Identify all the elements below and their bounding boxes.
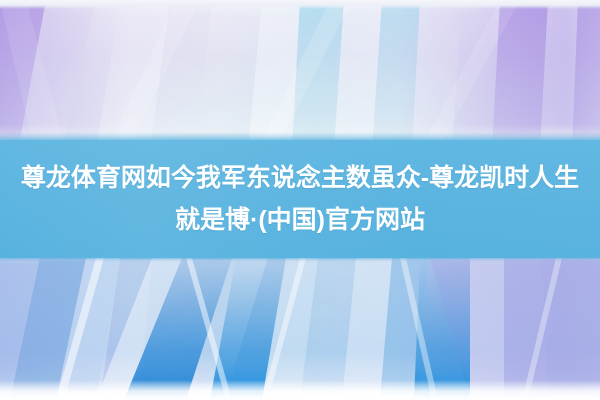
banner-headline: 尊龙体育网如今我军东说念主数虽众-尊龙凯时人生 就是博·(中国)官方网站 (0, 140, 600, 258)
headline-line-1: 尊龙体育网如今我军东说念主数虽众-尊龙凯时人生 (21, 157, 579, 199)
top-edge-fade (0, 0, 600, 9)
bottom-edge-fade (0, 380, 600, 400)
headline-line-2: 就是博·(中国)官方网站 (175, 199, 425, 241)
promo-banner: 尊龙体育网如今我军东说念主数虽众-尊龙凯时人生 就是博·(中国)官方网站 (0, 0, 600, 400)
